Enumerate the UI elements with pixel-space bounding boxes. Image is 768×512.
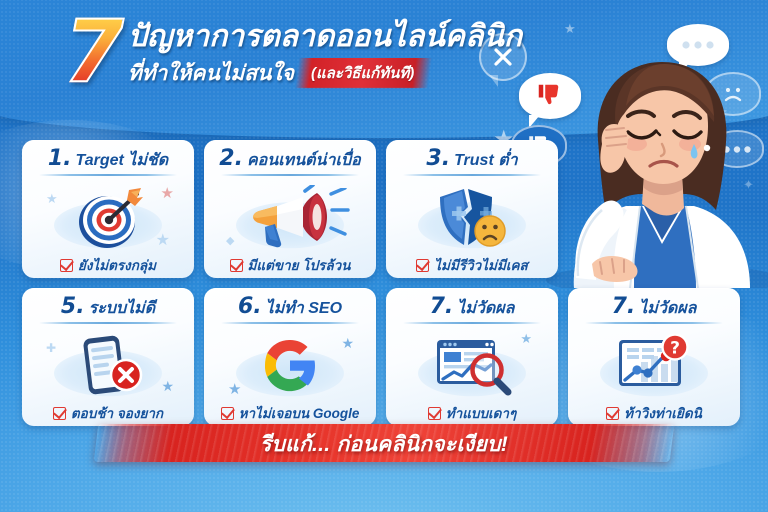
card-title: Trust ต่ำ [454,153,518,169]
issue-card[interactable]: 1. Target ไม่ชัด ★ ★ ★ [22,140,194,278]
checkbox-checked-icon [60,259,73,272]
target-dartboard-icon [71,184,145,250]
card-title: ระบบไม่ดี [89,301,155,317]
card-illustration: ★ ★ ★ [30,178,186,257]
browser-magnifier-icon [429,334,515,396]
grid-spacer [568,140,740,278]
card-title: Target ไม่ชัด [76,153,169,169]
svg-text:?: ? [670,339,680,359]
card-title: ไม่วัดผล [457,301,514,317]
card-illustration [394,178,550,257]
issue-card[interactable]: 5. ระบบไม่ดี ✚ ★ [22,288,194,426]
star-decoration: ★ [564,22,576,35]
star-decoration: ◆ [226,236,234,247]
checkbox-checked-icon [230,259,243,272]
card-number: 7. [430,296,454,318]
card-divider [403,174,540,176]
issue-card[interactable]: 7. ไม่วัดผล [568,288,740,426]
headline-sub: ที่ทำให้คนไม่สนใจ [128,57,294,90]
card-heading: 5. ระบบไม่ดี [30,296,186,322]
banner-text: รีบแก้... ก่อนคลินิกจะเงียบ! [260,428,508,461]
card-divider [39,174,176,176]
card-heading: 6. ไม่ทำ SEO [212,296,368,322]
card-number: 3. [426,148,450,170]
bottom-banner: รีบแก้... ก่อนคลินิกจะเงียบ! [0,418,768,470]
page-title: 7 ปัญหาการตลาดออนไลน์คลินิก ที่ทำให้คนไม… [64,16,522,90]
star-decoration: ★ [161,186,174,201]
star-decoration: ★ [228,382,241,397]
card-divider [221,174,358,176]
broken-shield-sad-face-icon [430,185,514,249]
star-decoration: ★ [46,192,58,205]
infographic-canvas: 7 ปัญหาการตลาดออนไลน์คลินิก ที่ทำให้คนไม… [0,0,768,512]
megaphone-icon [247,185,333,249]
card-title: ไม่ทำ SEO [266,301,342,317]
headline-tag: (และวิธีแก้ทันที) [301,59,424,88]
card-number: 7. [612,296,636,318]
star-decoration: ★ [156,233,170,249]
card-footer: ยังไม่ตรงกลุ่ม [60,257,156,273]
card-heading: 1. Target ไม่ชัด [30,148,186,174]
card-number: 1. [48,148,72,170]
card-number: 6. [238,296,262,318]
card-illustration: ? [576,326,732,405]
card-title: ไม่วัดผล [639,301,696,317]
card-footer: ไม่มีรีวิวไม่มีเคส [416,257,527,273]
card-divider [403,322,540,324]
card-divider [585,322,722,324]
phone-error-icon [68,333,148,397]
issue-card[interactable]: 3. Trust ต่ำ [386,140,558,278]
headline-main: ปัญหาการตลาดออนไลน์คลินิก [128,20,522,54]
card-heading: 7. ไม่วัดผล [576,296,732,322]
card-illustration: ◆ [212,178,368,257]
card-heading: 7. ไม่วัดผล [394,296,550,322]
star-decoration: ★ [161,379,174,393]
card-illustration: ★ ★ [212,326,368,405]
card-heading: 2. คอนเทนต์น่าเบื่อ [212,148,368,174]
issue-card[interactable]: 2. คอนเทนต์น่าเบื่อ ◆ [204,140,376,278]
card-footer: มีแต่ขาย โปรล้วน [230,257,351,273]
sound-waves-icon [328,188,350,236]
star-decoration: ✚ [46,342,56,354]
card-divider [221,322,358,324]
google-g-icon [260,335,320,395]
headline-number: 7 [64,16,122,90]
card-footer-text: มีแต่ขาย โปรล้วน [248,259,351,273]
issue-card-grid: 1. Target ไม่ชัด ★ ★ ★ [22,140,748,426]
card-illustration: ★ [394,326,550,405]
card-title: คอนเทนต์น่าเบื่อ [247,153,361,169]
card-footer-text: ยังไม่ตรงกลุ่ม [78,259,156,273]
card-number: 2. [219,148,243,170]
card-heading: 3. Trust ต่ำ [394,148,550,174]
card-illustration: ✚ ★ [30,326,186,405]
star-decoration: ★ [520,332,532,345]
card-footer-text: ไม่มีรีวิวไม่มีเคส [434,259,527,273]
star-decoration: ★ [341,336,354,350]
card-divider [39,322,176,324]
checkbox-checked-icon [416,259,429,272]
issue-card[interactable]: 7. ไม่วัดผล ★ [386,288,558,426]
issue-card[interactable]: 6. ไม่ทำ SEO ★ ★ หาไม่เจอบน Google [204,288,376,426]
card-number: 5. [61,296,85,318]
chart-question-icon: ? [611,334,697,396]
